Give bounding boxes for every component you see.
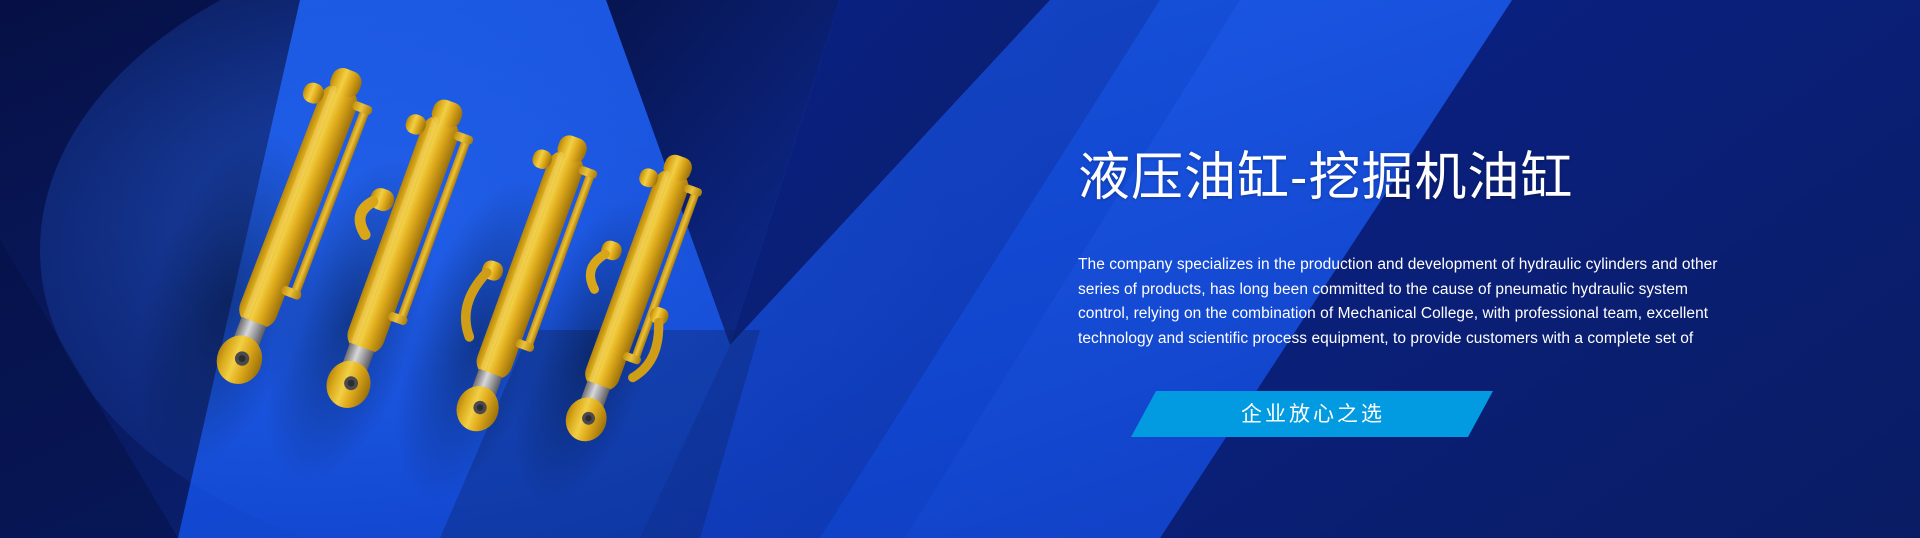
page-title: 液压油缸-挖掘机油缸 bbox=[1078, 147, 1573, 209]
hydraulic-cylinders-image bbox=[0, 0, 1000, 538]
description-line: control, relying on the combination of M… bbox=[1078, 302, 1702, 327]
banner-description: The company specializes in the productio… bbox=[1078, 253, 1702, 351]
description-line: The company specializes in the productio… bbox=[1078, 253, 1702, 278]
hero-banner: 液压油缸-挖掘机油缸 The company specializes in th… bbox=[0, 0, 1920, 538]
description-line: technology and scientific process equipm… bbox=[1078, 327, 1702, 352]
cta-button-label: 企业放心之选 bbox=[1239, 404, 1385, 425]
cta-button[interactable]: 企业放心之选 bbox=[1131, 391, 1493, 437]
banner-content: 液压油缸-挖掘机油缸 The company specializes in th… bbox=[1078, 0, 1718, 538]
description-line: series of products, has long been commit… bbox=[1078, 278, 1702, 303]
